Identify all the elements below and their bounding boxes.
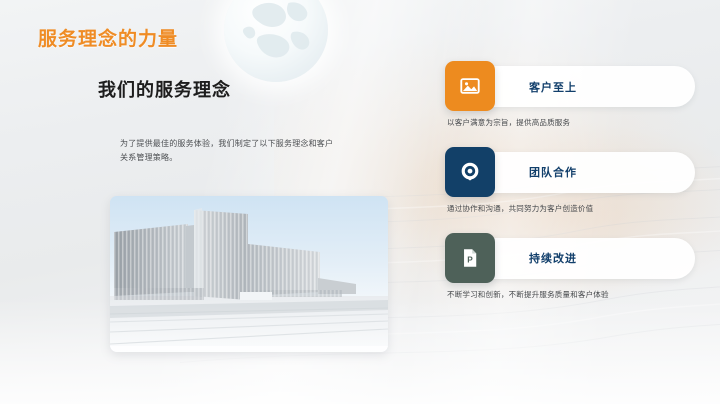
- values-card-list: 客户至上 以客户满意为宗旨，提供高品质服务 团队合作: [445, 66, 695, 302]
- value-card-description: 不断学习和创新，不断提升服务质量和客户体验: [447, 288, 657, 302]
- value-card[interactable]: 团队合作 通过协作和沟通，共同努力为客户创造价值: [445, 152, 695, 216]
- target-ring-icon: [459, 161, 481, 183]
- value-card-title: 团队合作: [529, 164, 577, 180]
- value-card-description: 以客户满意为宗旨，提供高品质服务: [447, 116, 657, 130]
- value-card[interactable]: 客户至上 以客户满意为宗旨，提供高品质服务: [445, 66, 695, 130]
- presentation-slide: 服务理念的力量 我们的服务理念 为了提供最佳的服务体验，我们制定了以下服务理念和…: [0, 0, 720, 404]
- building-photo: [110, 196, 388, 352]
- image-icon: [459, 75, 481, 97]
- value-card-badge: [445, 61, 495, 111]
- svg-text:P: P: [467, 255, 473, 264]
- value-card-title: 客户至上: [529, 79, 577, 95]
- document-p-icon: P: [459, 247, 481, 269]
- value-card-title: 持续改进: [529, 250, 577, 266]
- value-card-description: 通过协作和沟通，共同努力为客户创造价值: [447, 202, 657, 216]
- page-title: 服务理念的力量: [38, 24, 178, 51]
- value-card-badge: P: [445, 233, 495, 283]
- value-card[interactable]: 持续改进 P 不断学习和创新，不断提升服务质量和客户体验: [445, 238, 695, 302]
- section-heading: 我们的服务理念: [98, 76, 231, 102]
- lead-paragraph: 为了提供最佳的服务体验，我们制定了以下服务理念和客户关系管理策略。: [120, 137, 338, 165]
- value-card-badge: [445, 147, 495, 197]
